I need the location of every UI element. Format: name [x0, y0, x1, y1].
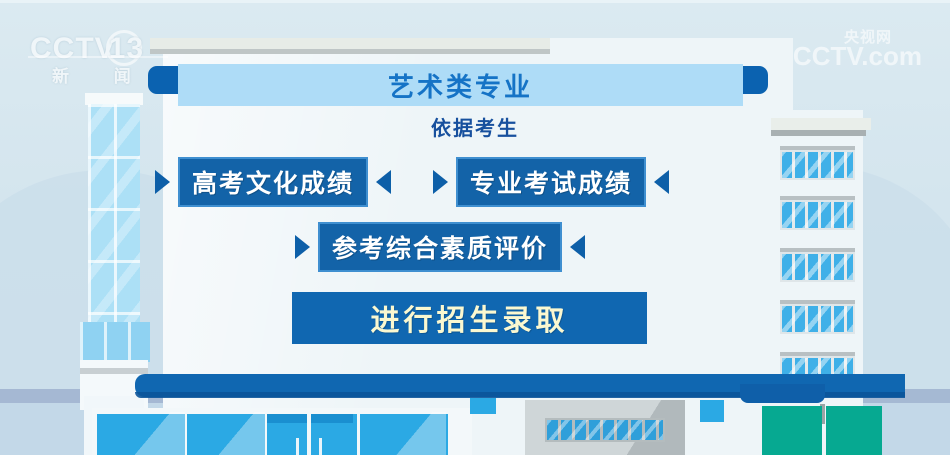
teal-panel-left — [762, 406, 822, 455]
building-roof-cap — [150, 38, 550, 49]
storefront-window-shine — [95, 412, 185, 455]
page-title: 艺术类专业 — [388, 67, 533, 104]
window-shine — [782, 306, 853, 332]
reference-chip-comprehensive-eval: 参考综合素质评价 — [318, 222, 562, 272]
subtitle: 依据考生 — [0, 112, 950, 141]
window-shine — [782, 254, 853, 280]
criteria-row: 高考文化成绩 专业考试成绩 — [155, 157, 669, 207]
arrow-left-icon — [654, 170, 669, 194]
cctv-logo-underline — [28, 56, 168, 58]
arrow-left-icon — [570, 235, 585, 259]
broadcast-screenshot: CCTV13 新 闻 央视网 CCTV.com 艺术类专业 依据考生 高考文化成… — [0, 0, 950, 455]
right-building-window-row — [780, 304, 855, 334]
cctv-logo-text: CCTV — [30, 32, 116, 65]
cctv-site-watermark: CCTV.com — [793, 41, 922, 72]
door-handle — [296, 438, 299, 455]
right-building-window-row — [780, 252, 855, 282]
cctv-channel-number: 13 — [106, 30, 142, 66]
cctv13-logo: CCTV13 — [30, 30, 142, 66]
left-low-glass-mullions — [80, 322, 150, 362]
arrow-right-icon — [433, 170, 448, 194]
roof-blue-tab — [740, 384, 825, 403]
window-shine — [782, 202, 853, 228]
reference-row: 参考综合素质评价 — [295, 222, 585, 272]
small-glass-accent — [700, 400, 724, 422]
storefront-window-shine — [185, 412, 265, 455]
small-glass-accent — [470, 398, 496, 414]
annex-window-shine — [547, 420, 663, 440]
cctv-news-label: 新 闻 — [52, 62, 151, 87]
window-shine — [782, 152, 853, 178]
building-roof-cap-shadow — [150, 49, 550, 54]
result-box: 进行招生录取 — [292, 292, 647, 344]
arrow-right-icon — [295, 235, 310, 259]
arrow-right-icon — [155, 170, 170, 194]
criteria-chip-major-test: 专业考试成绩 — [456, 157, 646, 207]
arrow-left-icon — [376, 170, 391, 194]
right-building-window-row — [780, 200, 855, 230]
glass-tower-base-band — [80, 368, 148, 374]
teal-panel-right — [826, 406, 882, 455]
sky-top-edge — [0, 0, 950, 3]
storefront-window-shine — [358, 412, 446, 455]
entrance-door-divider — [307, 414, 311, 455]
result-label: 进行招生录取 — [370, 297, 568, 339]
title-banner: 艺术类专业 — [178, 64, 743, 106]
criteria-chip-exam-score: 高考文化成绩 — [178, 157, 368, 207]
door-handle — [319, 438, 322, 455]
right-building-window-row — [780, 150, 855, 180]
